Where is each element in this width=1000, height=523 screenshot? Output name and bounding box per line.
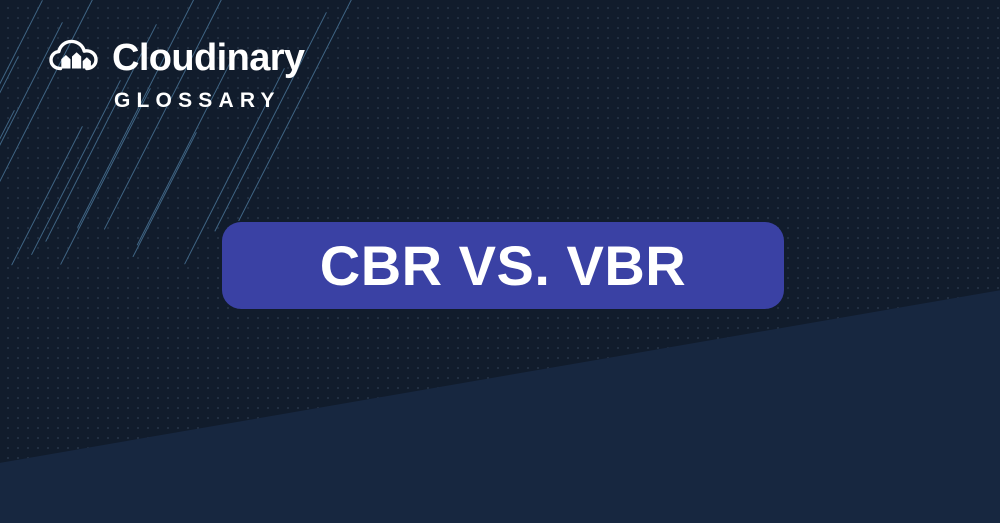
diagonal-streak-line <box>0 0 109 236</box>
glossary-banner: Cloudinary GLOSSARY CBR VS. VBR <box>0 0 1000 523</box>
page-title: CBR VS. VBR <box>320 238 686 294</box>
diagonal-streak-line <box>60 88 151 265</box>
cloudinary-cloud-bars-icon <box>48 38 104 78</box>
logo-primary-row: Cloudinary <box>48 38 304 78</box>
diagonal-streak-line <box>77 0 197 228</box>
diagonal-streak-line <box>0 56 19 279</box>
diagonal-streak-line <box>0 110 15 271</box>
page-title-pill: CBR VS. VBR <box>222 222 784 309</box>
diagonal-streak-line <box>0 0 43 230</box>
glossary-subtitle: GLOSSARY <box>114 90 281 111</box>
diagonal-streak-line <box>132 132 196 257</box>
diagonal-streak-line <box>11 126 83 265</box>
diagonal-streak-line <box>104 0 241 230</box>
cloudinary-wordmark: Cloudinary <box>112 39 304 77</box>
cloudinary-logo-lockup[interactable]: Cloudinary GLOSSARY <box>48 38 304 111</box>
